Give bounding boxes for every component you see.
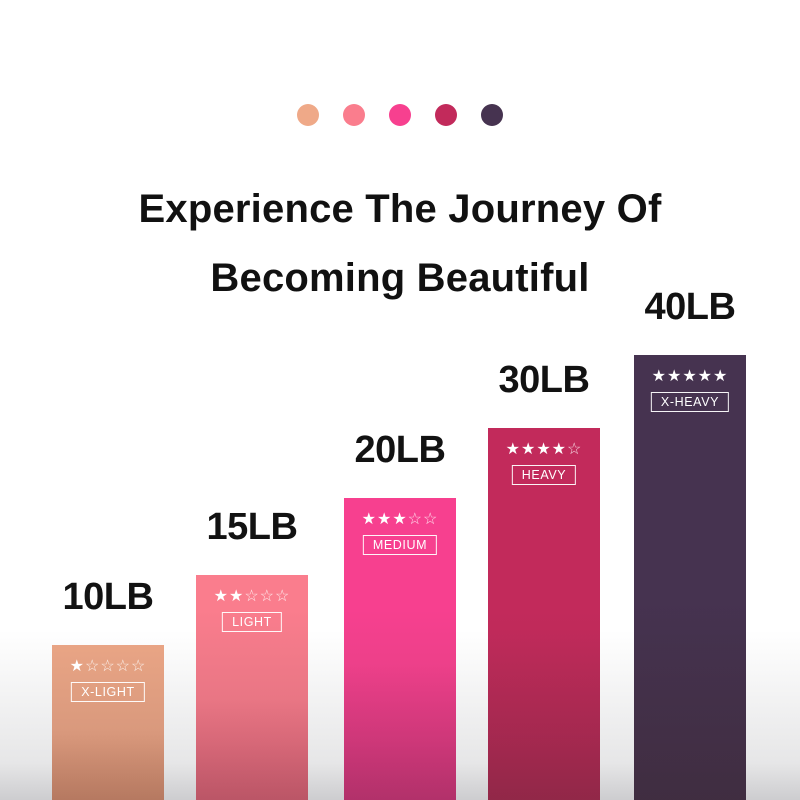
bar-badge-40lb: ★★★★★ X-HEAVY: [642, 369, 738, 412]
bar-group-40lb: 40LB ★★★★★ X-HEAVY: [634, 290, 746, 800]
bar-group-20lb: 20LB ★★★☆☆ MEDIUM: [344, 433, 456, 800]
tier-label-10lb: X-LIGHT: [71, 682, 145, 702]
bar-badge-20lb: ★★★☆☆ MEDIUM: [352, 512, 448, 555]
bar-badge-30lb: ★★★★☆ HEAVY: [496, 442, 592, 485]
tier-label-15lb: LIGHT: [222, 612, 282, 632]
bar-badge-15lb: ★★☆☆☆ LIGHT: [204, 589, 300, 632]
bar-value-label-20lb: 20LB: [355, 429, 446, 472]
dot-x-light-icon: [297, 104, 319, 126]
stars-filled: ★★: [214, 588, 245, 605]
bar-30lb[interactable]: ★★★★☆ HEAVY: [488, 428, 600, 800]
dot-medium-icon: [389, 104, 411, 126]
stars-empty: ☆☆: [408, 511, 439, 528]
stars-empty: ☆: [567, 441, 582, 458]
bar-20lb[interactable]: ★★★☆☆ MEDIUM: [344, 498, 456, 800]
stars-filled: ★★★★: [506, 441, 567, 458]
bar-value-label-15lb: 15LB: [207, 506, 298, 549]
tier-label-40lb: X-HEAVY: [651, 392, 729, 412]
page-title-line-1: Experience The Journey Of: [0, 175, 800, 244]
bar-group-15lb: 15LB ★★☆☆☆ LIGHT: [196, 510, 308, 800]
stars-filled: ★: [70, 658, 85, 675]
star-rating-15lb: ★★☆☆☆: [204, 589, 300, 605]
star-rating-30lb: ★★★★☆: [496, 442, 592, 458]
bar-bottom-shadow-30lb: [488, 610, 600, 800]
stars-filled: ★★★★★: [652, 368, 729, 385]
bar-group-10lb: 10LB ★☆☆☆☆ X-LIGHT: [52, 580, 164, 800]
bar-bottom-shadow-40lb: [634, 610, 746, 800]
product-infographic-poster: Experience The Journey Of Becoming Beaut…: [0, 0, 800, 800]
star-rating-10lb: ★☆☆☆☆: [60, 659, 156, 675]
stars-filled: ★★★: [362, 511, 408, 528]
stars-empty: ☆☆☆☆: [85, 658, 146, 675]
dot-heavy-icon: [435, 104, 457, 126]
bar-bottom-shadow-20lb: [344, 610, 456, 800]
page-title: Experience The Journey Of Becoming Beaut…: [0, 175, 800, 313]
color-swatch-dots: [0, 104, 800, 126]
bar-15lb[interactable]: ★★☆☆☆ LIGHT: [196, 575, 308, 800]
stars-empty: ☆☆☆: [244, 588, 290, 605]
dot-light-icon: [343, 104, 365, 126]
bar-10lb[interactable]: ★☆☆☆☆ X-LIGHT: [52, 645, 164, 800]
dot-x-heavy-icon: [481, 104, 503, 126]
star-rating-40lb: ★★★★★: [642, 369, 738, 385]
bar-value-label-30lb: 30LB: [499, 359, 590, 402]
tier-label-30lb: HEAVY: [512, 465, 576, 485]
bar-bottom-shadow-15lb: [196, 610, 308, 800]
bar-group-30lb: 30LB ★★★★☆ HEAVY: [488, 363, 600, 800]
bar-badge-10lb: ★☆☆☆☆ X-LIGHT: [60, 659, 156, 702]
tier-label-20lb: MEDIUM: [363, 535, 437, 555]
page-title-line-2: Becoming Beautiful: [0, 244, 800, 313]
star-rating-20lb: ★★★☆☆: [352, 512, 448, 528]
bar-value-label-10lb: 10LB: [63, 576, 154, 619]
bar-40lb[interactable]: ★★★★★ X-HEAVY: [634, 355, 746, 800]
